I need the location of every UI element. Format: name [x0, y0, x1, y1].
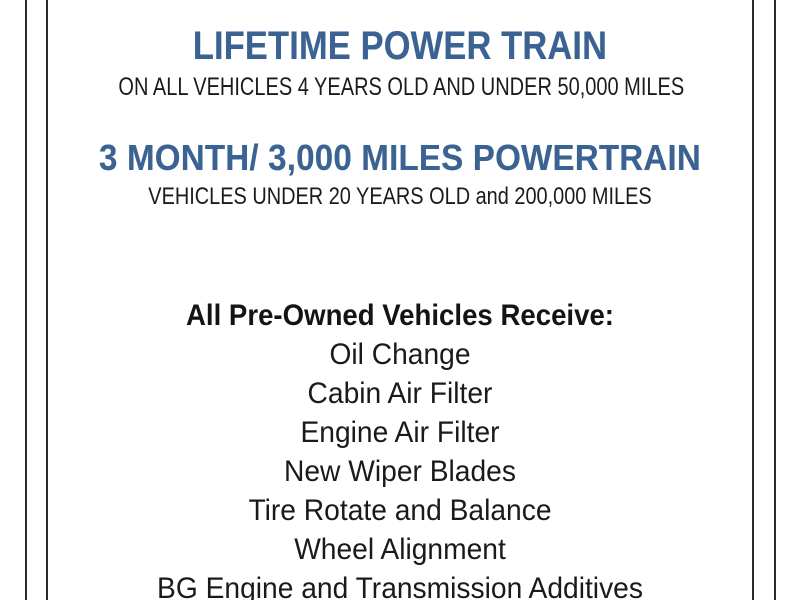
frame-rule-right-outer [774, 0, 776, 600]
warranty-block-lifetime: LIFETIME POWER TRAIN ON ALL VEHICLES 4 Y… [48, 24, 752, 102]
service-item: Engine Air Filter [69, 413, 731, 452]
frame-rule-left-outer [25, 0, 27, 600]
frame-rule-right-inner [752, 0, 754, 600]
service-item: Tire Rotate and Balance [69, 491, 731, 530]
warranty-block-3month: 3 MONTH/ 3,000 MILES POWERTRAIN VEHICLES… [48, 138, 752, 212]
services-section: All Pre-Owned Vehicles Receive: Oil Chan… [48, 296, 752, 600]
service-item: New Wiper Blades [69, 452, 731, 491]
service-item: BG Engine and Transmission Additives [69, 569, 731, 600]
content-column: LIFETIME POWER TRAIN ON ALL VEHICLES 4 Y… [48, 0, 752, 600]
warranty-subhead-3month: VEHICLES UNDER 20 YEARS OLD and 200,000 … [108, 182, 692, 212]
warranty-headline-lifetime: LIFETIME POWER TRAIN [97, 24, 702, 68]
warranty-headline-3month: 3 MONTH/ 3,000 MILES POWERTRAIN [76, 138, 724, 178]
flyer-page: LIFETIME POWER TRAIN ON ALL VEHICLES 4 Y… [0, 0, 800, 600]
service-item: Cabin Air Filter [69, 374, 731, 413]
warranty-subhead-lifetime: ON ALL VEHICLES 4 YEARS OLD AND UNDER 50… [118, 72, 681, 102]
service-item: Oil Change [69, 335, 731, 374]
services-title: All Pre-Owned Vehicles Receive: [76, 296, 724, 335]
service-item: Wheel Alignment [69, 530, 731, 569]
